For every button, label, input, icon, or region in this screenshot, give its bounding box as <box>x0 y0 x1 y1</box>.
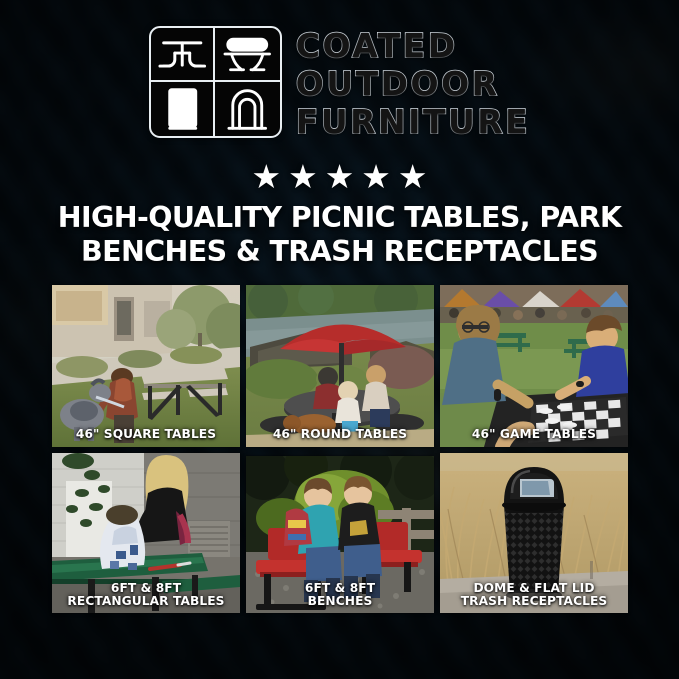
promotional-poster: COATED OUTDOOR FURNITURE ★ ★ ★ ★ ★ HIGH-… <box>0 0 679 679</box>
logo-icon-grid <box>149 26 282 138</box>
photo-square-tables <box>52 285 240 447</box>
caption-line-1: 46" SQUARE TABLES <box>55 428 237 442</box>
card-caption: 46" GAME TABLES <box>440 428 628 442</box>
card-caption: 46" SQUARE TABLES <box>52 428 240 442</box>
product-card-benches[interactable]: 6FT & 8FT BENCHES <box>246 456 434 613</box>
star-icon: ★ <box>288 160 318 193</box>
page-title: HIGH-QUALITY PICNIC TABLES, PARK BENCHES… <box>0 201 679 269</box>
product-card-trash-receptacles[interactable]: DOME & FLAT LID TRASH RECEPTACLES <box>440 453 628 613</box>
logo-line-1: COATED <box>296 28 530 65</box>
star-icon: ★ <box>361 160 391 193</box>
logo-wordmark: COATED OUTDOOR FURNITURE <box>296 26 530 141</box>
picnic-table-icon <box>151 28 216 82</box>
star-icon: ★ <box>252 160 282 193</box>
card-caption: 46" ROUND TABLES <box>246 428 434 442</box>
caption-line-1: 46" ROUND TABLES <box>249 428 431 442</box>
caption-line-2: TRASH RECEPTACLES <box>443 595 625 609</box>
photo-game-tables <box>440 285 628 447</box>
star-icon: ★ <box>398 160 428 193</box>
star-rating: ★ ★ ★ ★ ★ <box>0 160 679 193</box>
product-card-rectangular-tables[interactable]: 6FT & 8FT RECTANGULAR TABLES <box>52 453 240 613</box>
star-icon: ★ <box>325 160 355 193</box>
card-caption: DOME & FLAT LID TRASH RECEPTACLES <box>440 582 628 609</box>
logo-line-3: FURNITURE <box>296 104 530 141</box>
product-card-square-tables[interactable]: 46" SQUARE TABLES <box>52 285 240 447</box>
caption-line-2: RECTANGULAR TABLES <box>55 595 237 609</box>
product-category-grid: 46" SQUARE TABLES <box>52 285 628 613</box>
park-bench-icon <box>215 28 280 82</box>
product-card-game-tables[interactable]: 46" GAME TABLES <box>440 285 628 447</box>
headline-line-2: BENCHES & TRASH RECEPTACLES <box>26 235 653 269</box>
brand-logo: COATED OUTDOOR FURNITURE <box>0 26 679 141</box>
headline-line-1: HIGH-QUALITY PICNIC TABLES, PARK <box>26 201 653 235</box>
caption-line-1: 46" GAME TABLES <box>443 428 625 442</box>
product-card-round-tables[interactable]: 46" ROUND TABLES <box>246 285 434 447</box>
bike-rack-icon <box>215 82 280 136</box>
card-caption: 6FT & 8FT RECTANGULAR TABLES <box>52 582 240 609</box>
photo-round-tables <box>246 285 434 447</box>
logo-line-2: OUTDOOR <box>296 66 530 103</box>
card-caption: 6FT & 8FT BENCHES <box>246 582 434 609</box>
trash-receptacle-icon <box>151 82 216 136</box>
caption-line-2: BENCHES <box>249 595 431 609</box>
